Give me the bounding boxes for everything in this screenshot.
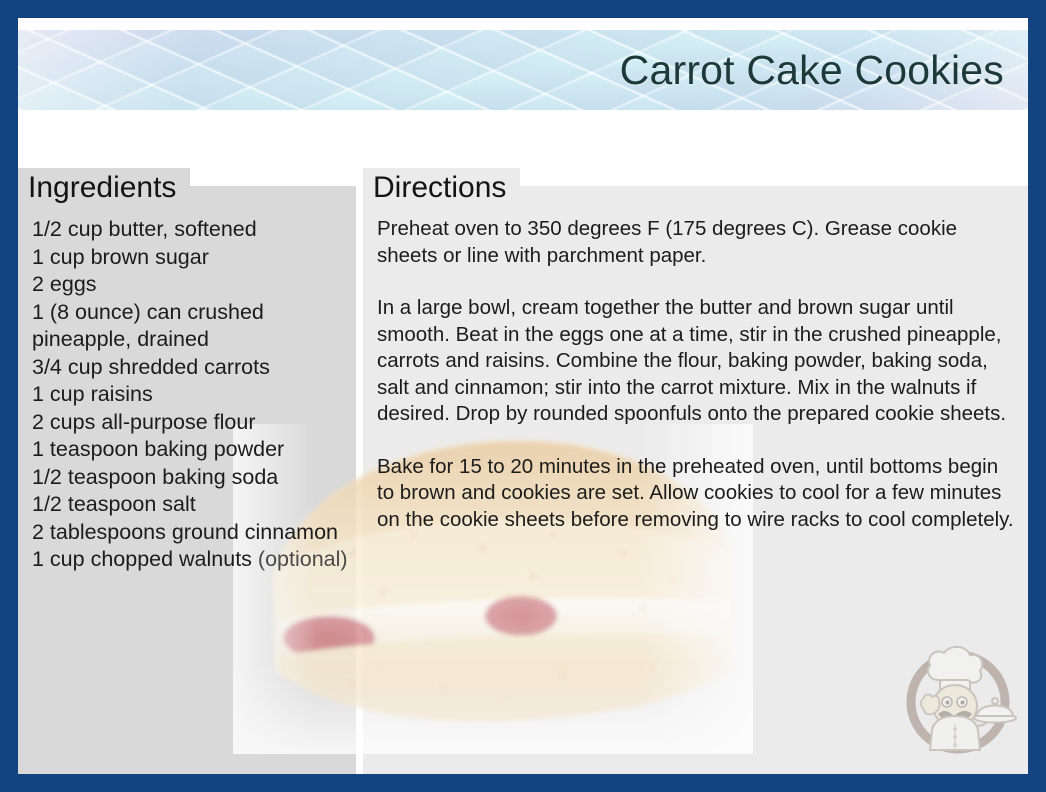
directions-panel: Preheat oven to 350 degrees F (175 degre… [363, 168, 1028, 778]
list-item-optional: 1 cup chopped walnuts (optional) [32, 546, 342, 574]
title-banner: Carrot Cake Cookies [18, 30, 1028, 110]
list-item: pineapple, drained [32, 326, 342, 354]
direction-step: In a large bowl, cream together the butt… [377, 295, 1014, 428]
ingredients-panel: 1/2 cup butter, softened 1 cup brown sug… [18, 168, 356, 778]
recipe-card: Carrot Cake Cookies 1/2 cup butter, soft… [0, 0, 1046, 792]
list-item: 2 tablespoons ground cinnamon [32, 519, 342, 547]
direction-step: Preheat oven to 350 degrees F (175 degre… [377, 216, 1014, 269]
list-item: 1/2 cup butter, softened [32, 216, 342, 244]
directions-heading: Directions [363, 168, 520, 208]
directions-steps: Preheat oven to 350 degrees F (175 degre… [377, 216, 1014, 533]
direction-step: Bake for 15 to 20 minutes in the preheat… [377, 454, 1014, 534]
ingredients-heading: Ingredients [18, 168, 190, 208]
list-item: 2 cups all-purpose flour [32, 409, 342, 437]
directions-panel-body: Preheat oven to 350 degrees F (175 degre… [363, 186, 1028, 778]
list-item: 1 (8 ounce) can crushed [32, 299, 342, 327]
list-item: 1/2 teaspoon baking soda [32, 464, 342, 492]
list-item: 1/2 teaspoon salt [32, 491, 342, 519]
list-item-label: 1 cup chopped walnuts [32, 547, 258, 571]
list-item: 2 eggs [32, 271, 342, 299]
ingredients-list: 1/2 cup butter, softened 1 cup brown sug… [32, 216, 342, 574]
list-item: 1 teaspoon baking powder [32, 436, 342, 464]
ingredients-panel-body: 1/2 cup butter, softened 1 cup brown sug… [18, 186, 356, 778]
list-item: 3/4 cup shredded carrots [32, 354, 342, 382]
optional-note: (optional) [258, 547, 348, 571]
page-title: Carrot Cake Cookies [620, 47, 1028, 94]
list-item: 1 cup brown sugar [32, 244, 342, 272]
list-item: 1 cup raisins [32, 381, 342, 409]
